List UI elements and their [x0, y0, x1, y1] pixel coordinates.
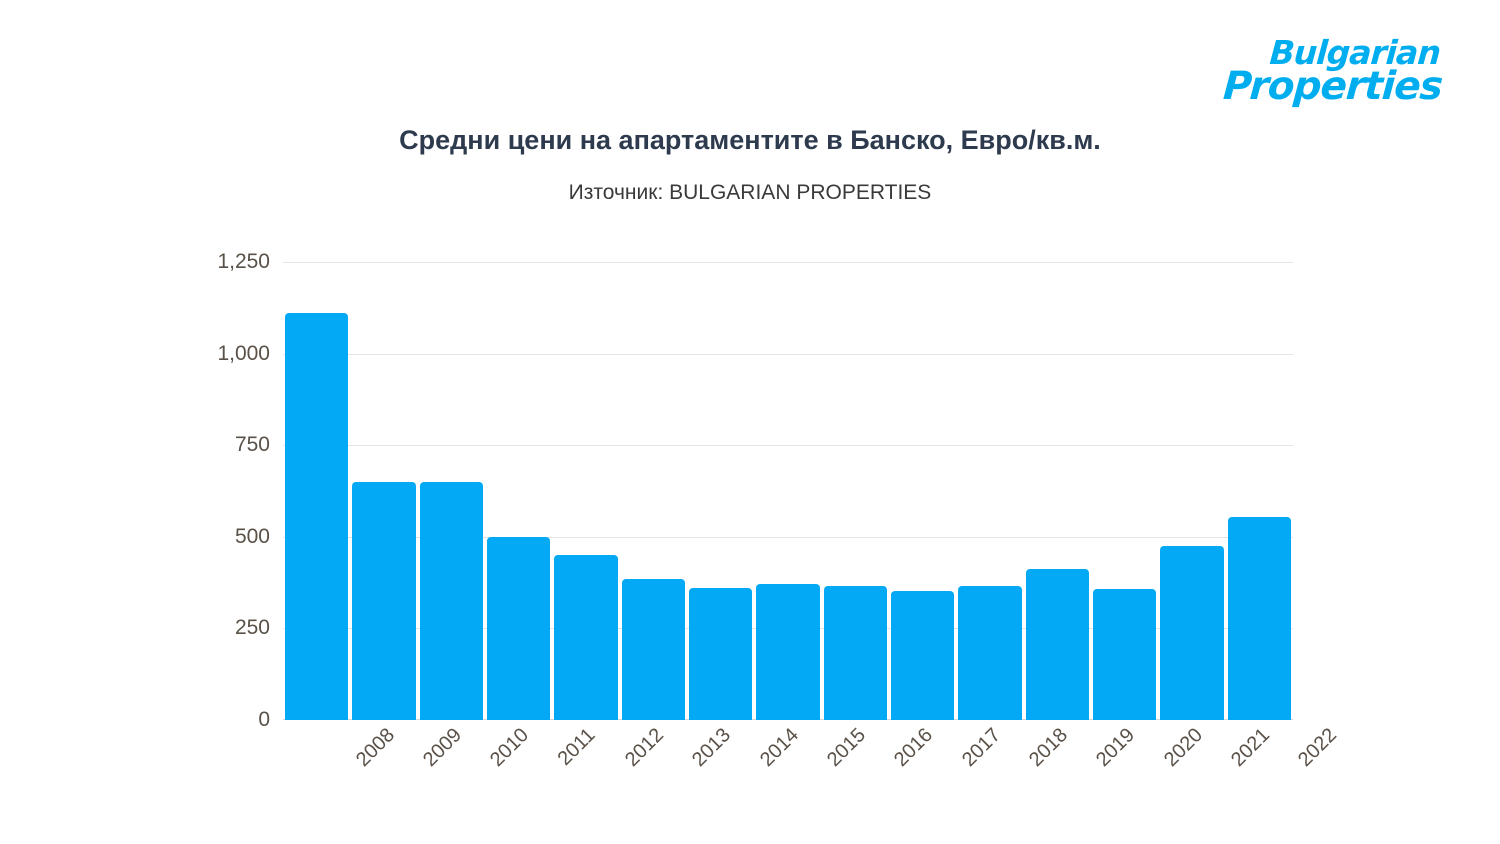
x-axis-tick-label: 2011: [553, 724, 600, 771]
x-axis-tick-label: 2017: [958, 724, 1006, 772]
bar[interactable]: [1026, 569, 1089, 720]
bars-layer: [283, 262, 1293, 720]
bar[interactable]: [756, 584, 819, 720]
x-axis-tick-label: 2013: [688, 724, 736, 772]
y-axis-tick-label: 500: [190, 525, 270, 549]
bar[interactable]: [891, 591, 954, 720]
x-axis-tick-label: 2016: [890, 724, 938, 772]
y-axis-tick-label: 1,000: [190, 342, 270, 366]
y-axis-tick-label: 750: [190, 433, 270, 457]
bar[interactable]: [285, 313, 348, 720]
x-axis-tick-label: 2008: [352, 724, 400, 772]
brand-logo-line-2: Properties: [1201, 67, 1444, 106]
y-axis-tick-label: 0: [190, 708, 270, 732]
x-axis-tick-label: 2021: [1227, 724, 1275, 772]
bar[interactable]: [689, 588, 752, 720]
chart-subtitle: Източник: BULGARIAN PROPERTIES: [0, 181, 1500, 205]
bar[interactable]: [420, 482, 483, 720]
x-axis-tick-label: 2015: [823, 724, 871, 772]
bar[interactable]: [554, 555, 617, 720]
chart-title: Средни цени на апартаментите в Банско, Е…: [0, 125, 1500, 156]
x-axis-tick-label: 2012: [621, 724, 669, 772]
brand-logo: Bulgarian Properties: [1202, 36, 1442, 114]
x-axis-tick-label: 2020: [1160, 724, 1208, 772]
x-axis-tick-label: 2022: [1294, 724, 1342, 772]
bar[interactable]: [1228, 517, 1291, 720]
bar[interactable]: [824, 586, 887, 720]
x-axis-tick-label: 2010: [486, 724, 534, 772]
bar[interactable]: [487, 537, 550, 720]
bar[interactable]: [958, 586, 1021, 720]
bar[interactable]: [352, 482, 415, 720]
x-axis: 2008200920102011201220132014201520162017…: [283, 724, 1293, 814]
y-axis: 02505007501,0001,250: [190, 262, 270, 720]
bar[interactable]: [622, 579, 685, 720]
y-axis-tick-label: 250: [190, 616, 270, 640]
y-axis-tick-label: 1,250: [190, 250, 270, 274]
x-axis-tick-label: 2019: [1092, 724, 1140, 772]
bar[interactable]: [1160, 546, 1223, 720]
x-axis-tick-label: 2018: [1025, 724, 1073, 772]
bar[interactable]: [1093, 589, 1156, 720]
x-axis-tick-label: 2014: [756, 724, 804, 772]
x-axis-tick-label: 2009: [419, 724, 467, 772]
